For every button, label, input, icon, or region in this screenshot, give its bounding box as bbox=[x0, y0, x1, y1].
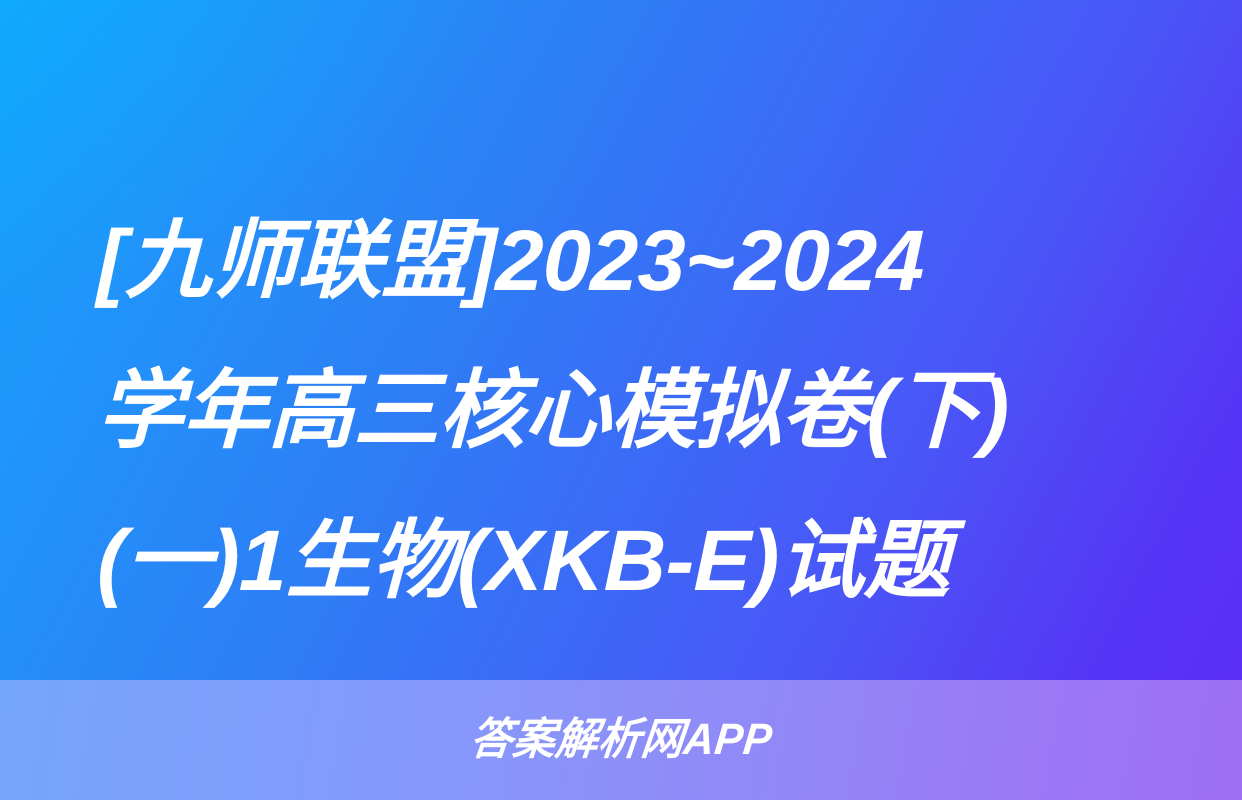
app-watermark-label: 答案解析网APP bbox=[468, 718, 775, 762]
title-line-2: 学年高三核心模拟卷(下) bbox=[96, 336, 1149, 486]
page-title: [九师联盟]2023~2024 学年高三核心模拟卷(下) (一)1生物(XKB-… bbox=[0, 186, 1242, 636]
exam-cover-card: [九师联盟]2023~2024 学年高三核心模拟卷(下) (一)1生物(XKB-… bbox=[0, 0, 1242, 800]
promo-banner: 答案解析网APP bbox=[0, 680, 1242, 800]
title-line-1: [九师联盟]2023~2024 bbox=[96, 186, 1149, 336]
title-line-3: (一)1生物(XKB-E)试题 bbox=[96, 486, 1149, 636]
